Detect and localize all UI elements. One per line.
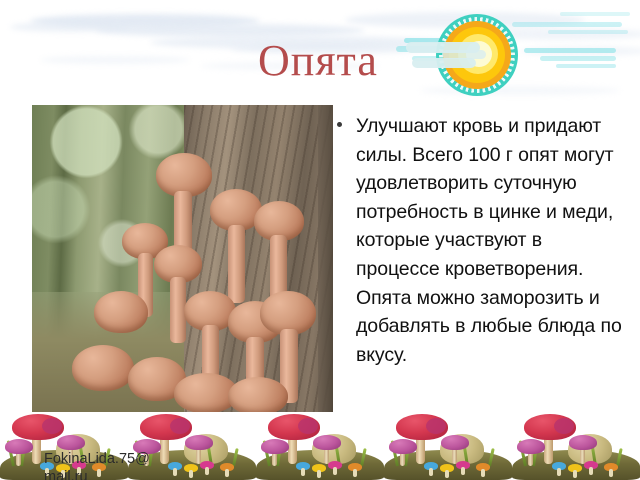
cyan-wisp-icon <box>512 22 622 27</box>
mushroom-icon <box>604 463 618 471</box>
cyan-wisp-icon <box>548 30 628 34</box>
mushroom-icon <box>389 439 417 454</box>
photo-mushroom-cap <box>228 377 288 412</box>
mushroom-icon <box>296 462 310 470</box>
mushroom-icon <box>396 414 448 440</box>
cyan-wisp-icon <box>540 56 616 61</box>
mushroom-icon <box>312 464 326 472</box>
mushroom-icon <box>440 464 454 472</box>
mushroom-icon <box>12 414 64 440</box>
mushroom-icon <box>456 461 470 469</box>
mushroom-icon <box>569 435 597 450</box>
mushroom-icon <box>552 462 566 470</box>
mushroom-icon <box>424 462 438 470</box>
cloud-streak-icon <box>442 50 486 59</box>
mushroom-icon <box>268 414 320 440</box>
bullet-dot-icon <box>337 122 342 127</box>
page-title: Опята <box>258 36 378 86</box>
cloud-icon <box>40 56 190 64</box>
mushroom-icon <box>140 414 192 440</box>
mushroom-icon <box>185 435 213 450</box>
mushroom-icon <box>517 439 545 454</box>
cyan-wisp-icon <box>560 12 630 16</box>
mushroom-border-tile <box>256 408 384 480</box>
mushroom-icon <box>568 464 582 472</box>
mushroom-icon <box>184 464 198 472</box>
mushroom-border-tile <box>512 408 640 480</box>
cloud-icon <box>30 14 260 28</box>
photo-mushroom-stem <box>228 225 245 303</box>
mushroom-icon <box>328 461 342 469</box>
photo-tree-trunk-right <box>318 105 333 412</box>
cloud-icon <box>10 22 130 32</box>
mushroom-icon <box>313 435 341 450</box>
mushroom-icon <box>261 439 289 454</box>
sun-icon <box>436 14 518 96</box>
cyan-wisp-icon <box>524 48 616 53</box>
mushroom-icon <box>168 462 182 470</box>
mushroom-icon <box>200 461 214 469</box>
mushroom-icon <box>584 461 598 469</box>
cyan-wisp-icon <box>556 64 616 68</box>
photo-mushroom-cap <box>94 291 148 333</box>
footer-email: FokinaLida.75@mail.ru <box>44 450 160 480</box>
mushroom-icon <box>441 435 469 450</box>
mushroom-icon <box>5 439 33 454</box>
mushroom-border-tile <box>384 408 512 480</box>
mushroom-photo <box>32 105 333 412</box>
mushroom-icon <box>476 463 490 471</box>
body-text: Улучшают кровь и придают силы. Всего 100… <box>356 112 628 369</box>
cloud-icon <box>520 46 640 56</box>
slide: Опята Улучшают кровь и придают силы. Все… <box>0 0 640 480</box>
mushroom-icon <box>524 414 576 440</box>
photo-mushroom-cap <box>72 345 134 391</box>
cloud-streak-icon <box>412 58 476 68</box>
mushroom-icon <box>348 463 362 471</box>
mushroom-icon <box>57 435 85 450</box>
mushroom-icon <box>220 463 234 471</box>
